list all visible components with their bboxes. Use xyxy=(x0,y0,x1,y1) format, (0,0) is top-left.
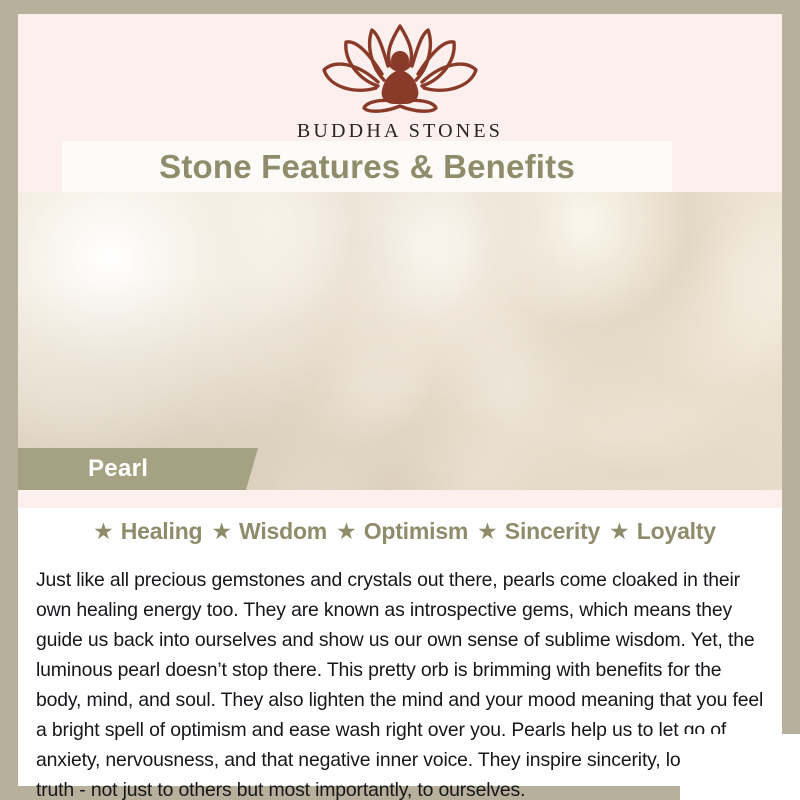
infographic-page: BUDDHA STONES Stone Features & Benefits … xyxy=(0,0,800,800)
stone-name-banner: Pearl xyxy=(18,448,246,490)
stone-description: Just like all precious gemstones and cry… xyxy=(36,565,766,800)
star-icon: ★ xyxy=(336,520,357,543)
page-title: Stone Features & Benefits xyxy=(159,148,575,186)
pearl-stones-photo xyxy=(18,192,782,490)
benefit-label: Healing xyxy=(121,518,203,545)
corner-fill-white xyxy=(680,734,800,800)
star-icon: ★ xyxy=(477,520,498,543)
benefit-item: ★ Wisdom xyxy=(202,518,327,545)
photo-sheen-overlay xyxy=(18,192,782,490)
lotus-meditation-icon xyxy=(316,22,484,114)
benefit-label: Wisdom xyxy=(239,518,327,545)
stone-name: Pearl xyxy=(18,455,148,483)
benefit-item: ★ Loyalty xyxy=(600,518,716,545)
benefits-row: ★ Healing ★ Wisdom ★ Optimism ★ Sincerit… xyxy=(18,518,782,545)
brand-name: BUDDHA STONES xyxy=(0,120,800,143)
benefit-item: ★ Sincerity xyxy=(468,518,600,545)
benefit-label: Optimism xyxy=(364,518,468,545)
benefit-label: Loyalty xyxy=(637,518,716,545)
benefit-label: Sincerity xyxy=(505,518,600,545)
star-icon: ★ xyxy=(93,520,114,543)
star-icon: ★ xyxy=(211,520,232,543)
star-icon: ★ xyxy=(609,520,630,543)
benefit-item: ★ Healing xyxy=(84,518,202,545)
brand-header: BUDDHA STONES xyxy=(0,22,800,143)
page-title-bar: Stone Features & Benefits xyxy=(62,141,672,192)
benefit-item: ★ Optimism xyxy=(327,518,468,545)
